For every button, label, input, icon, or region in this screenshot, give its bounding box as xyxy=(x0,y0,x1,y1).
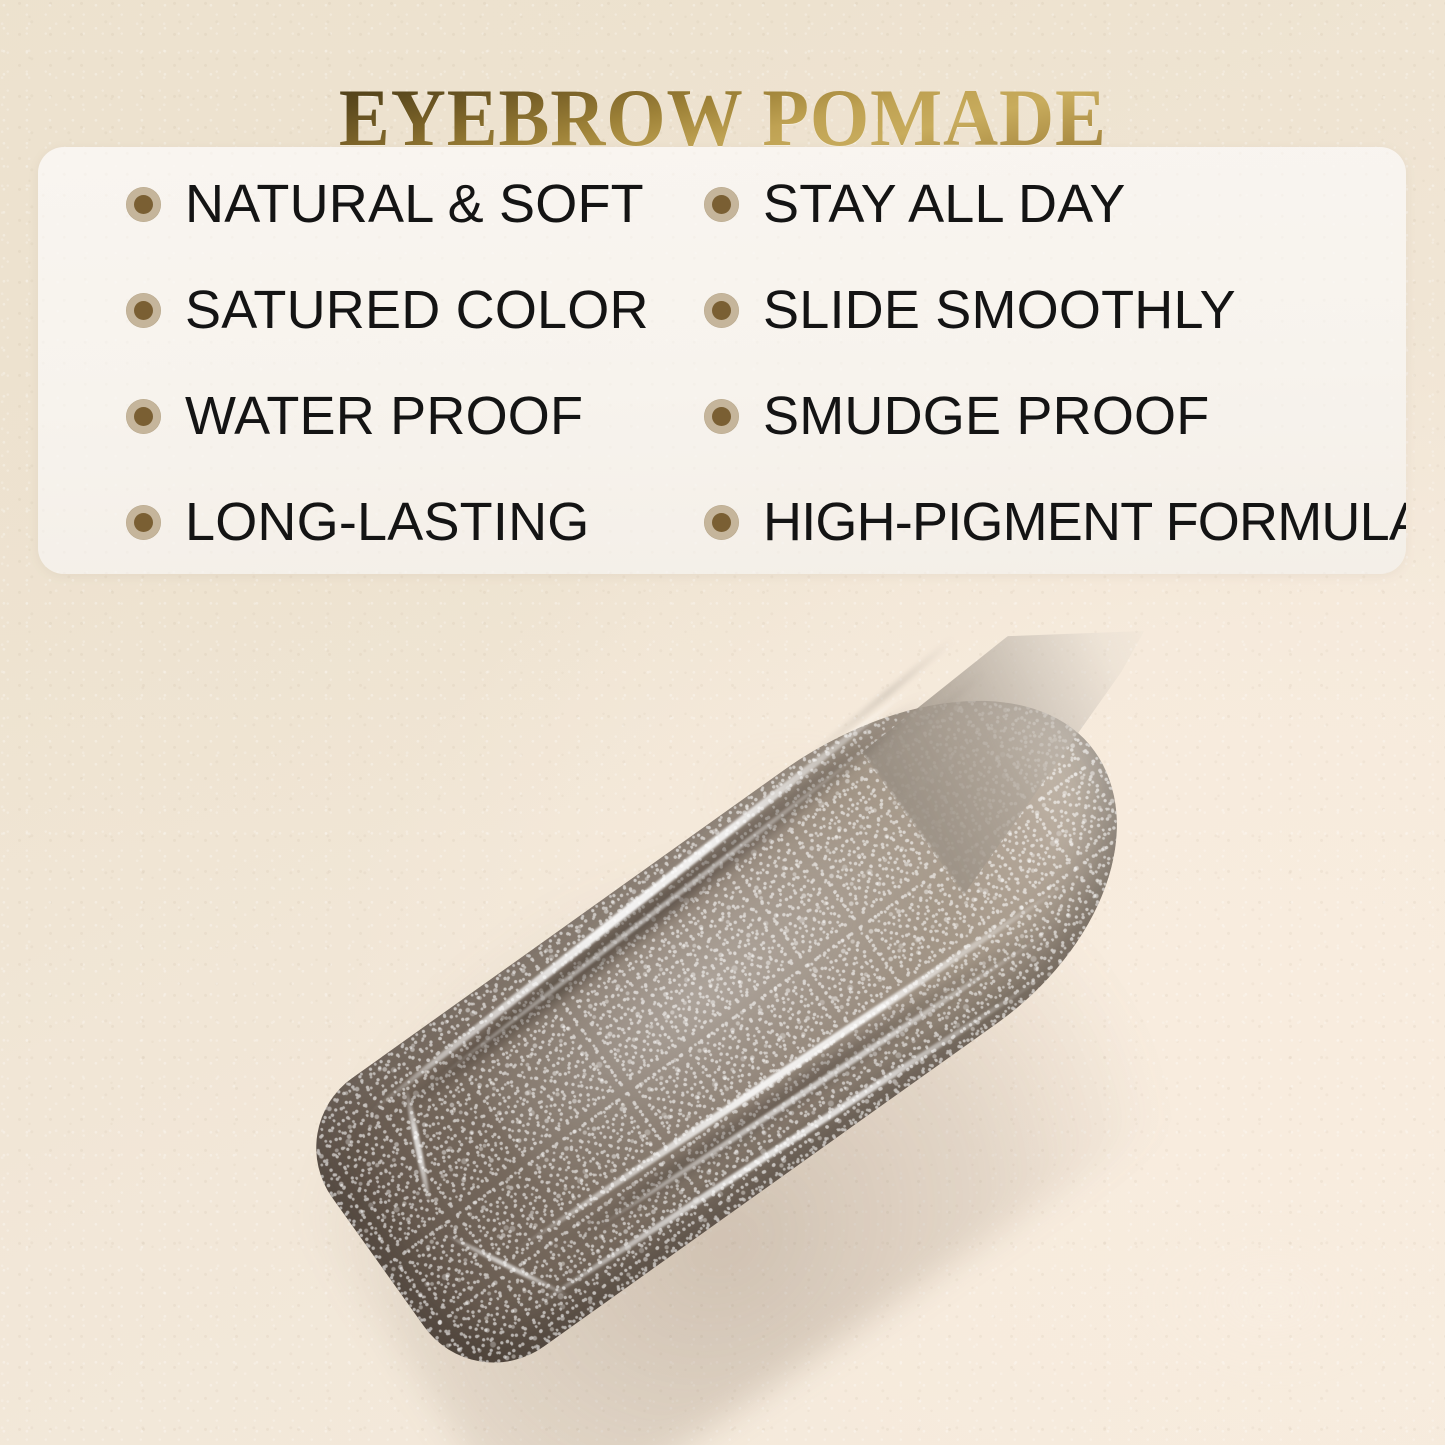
bullet-dot-icon xyxy=(704,505,739,540)
pomade-smear-swatch xyxy=(268,603,1198,1393)
feature-grid: NATURAL & SOFT STAY ALL DAY SATURED COLO… xyxy=(38,147,1406,574)
bullet-dot-icon xyxy=(126,505,161,540)
feature-item-water-proof: WATER PROOF xyxy=(38,363,692,469)
feature-item-long-lasting: LONG-LASTING xyxy=(38,469,692,574)
feature-label: SMUDGE PROOF xyxy=(763,389,1209,443)
feature-label: STAY ALL DAY xyxy=(763,177,1126,231)
bullet-dot-icon xyxy=(126,187,161,222)
feature-item-natural-soft: NATURAL & SOFT xyxy=(38,151,692,257)
feature-item-slide-smoothly: SLIDE SMOOTHLY xyxy=(692,257,1406,363)
feature-item-stay-all-day: STAY ALL DAY xyxy=(692,151,1406,257)
bullet-dot-icon xyxy=(704,187,739,222)
feature-label: NATURAL & SOFT xyxy=(185,177,644,231)
bullet-dot-icon xyxy=(704,293,739,328)
feature-item-smudge-proof: SMUDGE PROOF xyxy=(692,363,1406,469)
swatch-stage xyxy=(0,585,1445,1445)
feature-item-satured-color: SATURED COLOR xyxy=(38,257,692,363)
bullet-dot-icon xyxy=(126,399,161,434)
feature-label: WATER PROOF xyxy=(185,389,583,443)
feature-label: LONG-LASTING xyxy=(185,495,589,549)
feature-list-card: NATURAL & SOFT STAY ALL DAY SATURED COLO… xyxy=(38,147,1406,574)
feature-label: SLIDE SMOOTHLY xyxy=(763,283,1236,337)
swatch-body xyxy=(160,446,1303,1445)
product-feature-poster: EYEBROW POMADE NATURAL & SOFT STAY ALL D… xyxy=(0,0,1445,1445)
bullet-dot-icon xyxy=(126,293,161,328)
feature-label: SATURED COLOR xyxy=(185,283,649,337)
bullet-dot-icon xyxy=(704,399,739,434)
